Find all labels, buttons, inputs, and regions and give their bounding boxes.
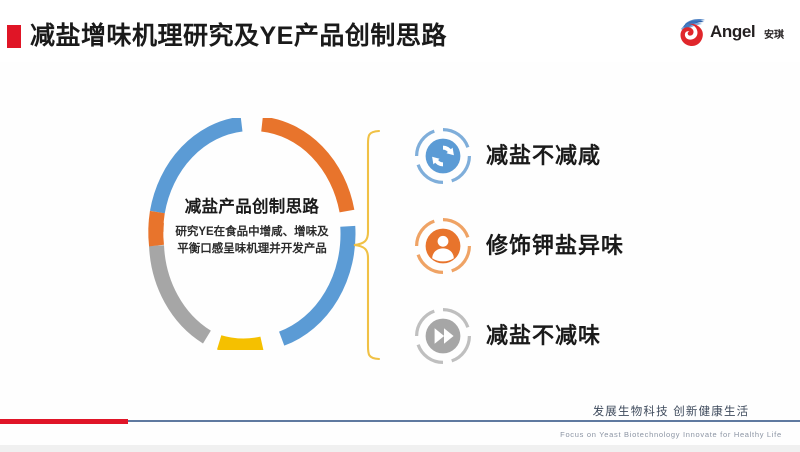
user-person-icon[interactable]	[414, 217, 472, 275]
footer-slogan-cn: 发展生物科技 创新健康生活	[556, 403, 786, 419]
title-accent-marker	[7, 25, 21, 48]
curly-brace-connector	[352, 128, 382, 362]
logo-wordmark-cn: 安琪	[764, 26, 784, 41]
footer-rule-blue	[128, 420, 800, 422]
page-title: 减盐增味机理研究及YE产品创制思路	[30, 19, 447, 53]
feature-label-1: 修饰钾盐异味	[486, 227, 624, 265]
donut-center-label: 减盐产品创制思路 研究YE在食品中增咸、增味及平衡口感呈味机理并开发产品	[164, 196, 340, 306]
feature-label-0: 减盐不减咸	[486, 137, 601, 175]
fast-forward-icon[interactable]	[414, 307, 472, 365]
slide-canvas: 减盐增味机理研究及YE产品创制思路 Angel 安琪	[0, 0, 800, 452]
footer-rule-red	[0, 419, 128, 424]
angel-spiral-logo-icon	[676, 18, 708, 48]
brand-logo: Angel 安琪	[676, 18, 788, 48]
sync-refresh-icon[interactable]	[414, 127, 472, 185]
feature-item-1[interactable]: 修饰钾盐异味	[414, 217, 744, 277]
donut-diagram: 减盐产品创制思路 研究YE在食品中增咸、增味及平衡口感呈味机理并开发产品	[142, 118, 362, 350]
donut-title: 减盐产品创制思路	[164, 196, 340, 218]
feature-item-0[interactable]: 减盐不减咸	[414, 127, 744, 187]
feature-item-2[interactable]: 减盐不减味	[414, 307, 744, 367]
footer-band	[0, 445, 800, 452]
footer-slogan-en: Focus on Yeast Biotechnology Innovate fo…	[556, 430, 786, 439]
segment-bottom-right	[219, 342, 262, 346]
feature-label-2: 减盐不减味	[486, 317, 601, 355]
logo-wordmark: Angel	[710, 22, 755, 42]
donut-description: 研究YE在食品中增咸、增味及平衡口感呈味机理并开发产品	[164, 224, 340, 257]
